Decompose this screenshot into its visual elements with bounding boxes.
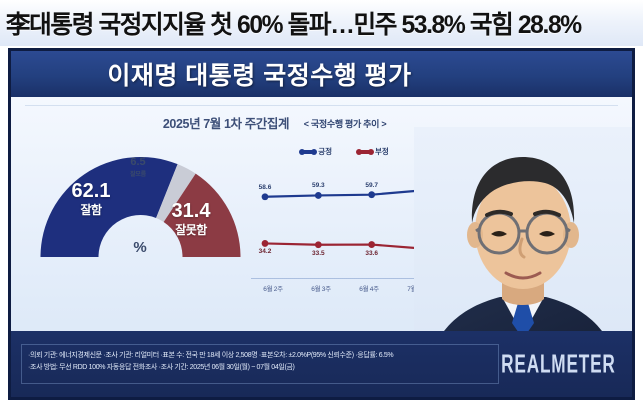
legend-item-positive: 긍정	[301, 146, 332, 157]
methodology-line-2: ·조사 방법: 무선 RDD 100% 자동응답 전화조사 ·조사 기간: 20…	[28, 362, 492, 374]
trend-point-label: 59.7	[365, 182, 378, 189]
axis-tick-label: 6월 4주	[349, 283, 389, 293]
approval-gauge: 62.1 잘함 6.5 잘모름 31.4 잘못함 %	[33, 135, 248, 265]
card-title-band: 이재명 대통령 국정수행 평가	[11, 51, 632, 97]
trend-point	[315, 241, 322, 248]
trend-point	[368, 241, 375, 248]
legend-label-negative: 부정	[375, 146, 389, 157]
realmeter-logo: REALMETER	[501, 350, 616, 380]
panel-divider	[25, 105, 618, 106]
trend-point	[315, 192, 322, 199]
poll-graphic-card: 이재명 대통령 국정수행 평가 2025년 7월 1차 주간집계 62.1 잘함	[8, 48, 635, 400]
methodology-line-1: ·의뢰 기관: 에너지경제신문 ·조사 기관: 리얼미터 ·표본 수: 전국 만…	[28, 350, 492, 362]
legend-label-positive: 긍정	[318, 146, 332, 157]
legend-swatch-negative	[358, 150, 372, 154]
trend-point	[368, 191, 375, 198]
trend-line-negative	[265, 243, 425, 248]
legend-swatch-positive	[301, 150, 315, 154]
trend-axis-line	[251, 278, 439, 279]
trend-point-label: 58.6	[259, 184, 272, 191]
news-graphic-screenshot: 李대통령 국정지지율 첫 60% 돌파…민주 53.8% 국힘 28.8% 이재…	[0, 0, 643, 407]
trend-point-label: 33.6	[365, 250, 378, 257]
trend-point	[262, 193, 269, 200]
headline-text: 李대통령 국정지지율 첫 60% 돌파…민주 53.8% 국힘 28.8%	[0, 5, 581, 41]
gauge-percent-symbol: %	[111, 239, 169, 256]
axis-tick-label: 6월 3주	[301, 283, 341, 293]
trend-line-positive	[265, 190, 425, 197]
headline-bar: 李대통령 국정지지율 첫 60% 돌파…민주 53.8% 국힘 28.8%	[0, 0, 643, 46]
trend-point-label: 59.3	[312, 182, 325, 189]
content-panel: 2025년 7월 1차 주간집계 62.1 잘함 6.5 잘모름	[11, 97, 632, 337]
footer-bar: ·의뢰 기관: 에너지경제신문 ·조사 기관: 리얼미터 ·표본 수: 전국 만…	[11, 331, 632, 397]
page-title: 이재명 대통령 국정수행 평가	[107, 56, 411, 92]
axis-tick-label: 6월 2주	[253, 283, 293, 293]
trend-point-label: 33.5	[312, 250, 325, 257]
trend-point	[262, 240, 269, 247]
legend-item-negative: 부정	[358, 146, 389, 157]
trend-point-label: 34.2	[259, 248, 272, 255]
methodology-box: ·의뢰 기관: 에너지경제신문 ·조사 기관: 리얼미터 ·표본 수: 전국 만…	[21, 344, 499, 384]
